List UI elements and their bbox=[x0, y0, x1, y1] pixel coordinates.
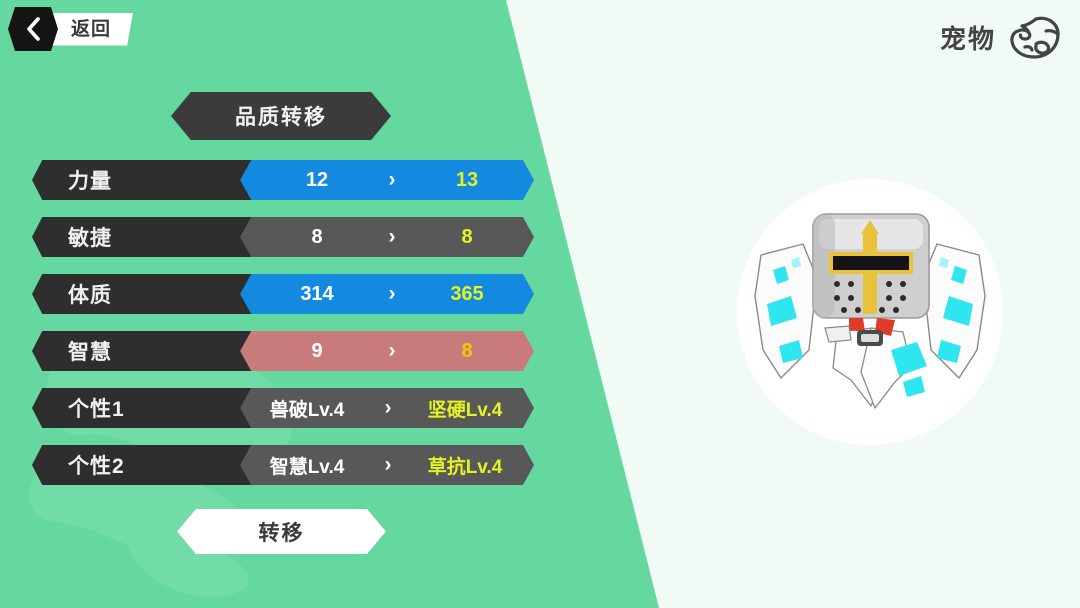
stat-row-trait-1[interactable]: 个性1 兽破Lv.4 › 坚硬Lv.4 bbox=[32, 388, 542, 428]
left-wing bbox=[755, 244, 817, 378]
back-button[interactable]: 返回 bbox=[8, 7, 133, 51]
stat-value-panel: 12 › 13 bbox=[218, 160, 534, 200]
stat-value-from: 8 bbox=[256, 226, 378, 249]
stat-label-panel: 智慧 bbox=[32, 331, 260, 371]
stat-value-to: 坚硬Lv.4 bbox=[400, 395, 530, 422]
arrow-right-icon: › bbox=[374, 168, 410, 192]
pet-quality-transfer-screen: 返回 宠物 品质转移 力量 12 › 1 bbox=[0, 0, 1080, 608]
stat-value-from: 兽破Lv.4 bbox=[242, 395, 372, 422]
back-button-label: 返回 bbox=[71, 20, 111, 39]
stat-value-panel: 兽破Lv.4 › 坚硬Lv.4 bbox=[218, 388, 534, 428]
stat-row-agility[interactable]: 敏捷 8 › 8 bbox=[32, 217, 542, 257]
stat-value-to: 8 bbox=[406, 340, 528, 363]
transfer-button[interactable]: 转移 bbox=[177, 509, 386, 554]
stat-value-from: 12 bbox=[256, 169, 378, 192]
stat-row-strength[interactable]: 力量 12 › 13 bbox=[32, 160, 542, 200]
stat-value-panel: 8 › 8 bbox=[218, 217, 534, 257]
stat-value-panel: 9 › 8 bbox=[218, 331, 534, 371]
back-button-hex[interactable] bbox=[8, 7, 58, 51]
chevron-left-icon bbox=[25, 16, 41, 42]
stat-value-to: 365 bbox=[406, 283, 528, 306]
stat-value-from: 314 bbox=[256, 283, 378, 306]
stat-label-panel: 敏捷 bbox=[32, 217, 260, 257]
stat-label: 个性2 bbox=[68, 450, 125, 480]
stat-label-panel: 个性2 bbox=[32, 445, 260, 485]
stat-label: 个性1 bbox=[68, 393, 125, 423]
right-wing bbox=[923, 244, 985, 378]
section-banner: 品质转移 bbox=[171, 92, 391, 140]
transfer-button-label: 转移 bbox=[259, 517, 305, 547]
crusader-helm bbox=[813, 214, 929, 318]
stat-row-trait-2[interactable]: 个性2 智慧Lv.4 › 草抗Lv.4 bbox=[32, 445, 542, 485]
pet-title: 宠物 bbox=[940, 14, 1062, 60]
arrow-right-icon: › bbox=[374, 339, 410, 363]
stat-value-from: 9 bbox=[256, 340, 378, 363]
section-banner-label: 品质转移 bbox=[235, 101, 327, 131]
stat-value-to: 8 bbox=[406, 226, 528, 249]
pet-title-label: 宠物 bbox=[940, 19, 996, 56]
stat-label: 智慧 bbox=[68, 336, 112, 366]
stat-label: 敏捷 bbox=[68, 222, 112, 252]
stat-value-panel: 智慧Lv.4 › 草抗Lv.4 bbox=[218, 445, 534, 485]
stat-label: 力量 bbox=[68, 165, 112, 195]
arrow-right-icon: › bbox=[374, 225, 410, 249]
stat-row-constitution[interactable]: 体质 314 › 365 bbox=[32, 274, 542, 314]
stat-row-wisdom[interactable]: 智慧 9 › 8 bbox=[32, 331, 542, 371]
arrow-right-icon: › bbox=[374, 282, 410, 306]
back-button-banner[interactable]: 返回 bbox=[49, 13, 133, 46]
stat-label: 体质 bbox=[68, 279, 112, 309]
stat-list: 力量 12 › 13 敏捷 8 › 8 体质 314 › bbox=[32, 160, 542, 502]
stat-value-to: 草抗Lv.4 bbox=[400, 452, 530, 479]
stat-label-panel: 体质 bbox=[32, 274, 260, 314]
dragon-head-icon bbox=[1006, 14, 1062, 60]
stat-value-to: 13 bbox=[406, 169, 528, 192]
stat-value-panel: 314 › 365 bbox=[218, 274, 534, 314]
stat-value-from: 智慧Lv.4 bbox=[242, 452, 372, 479]
pet-portrait-art[interactable] bbox=[745, 200, 995, 430]
stat-label-panel: 个性1 bbox=[32, 388, 260, 428]
stat-label-panel: 力量 bbox=[32, 160, 260, 200]
